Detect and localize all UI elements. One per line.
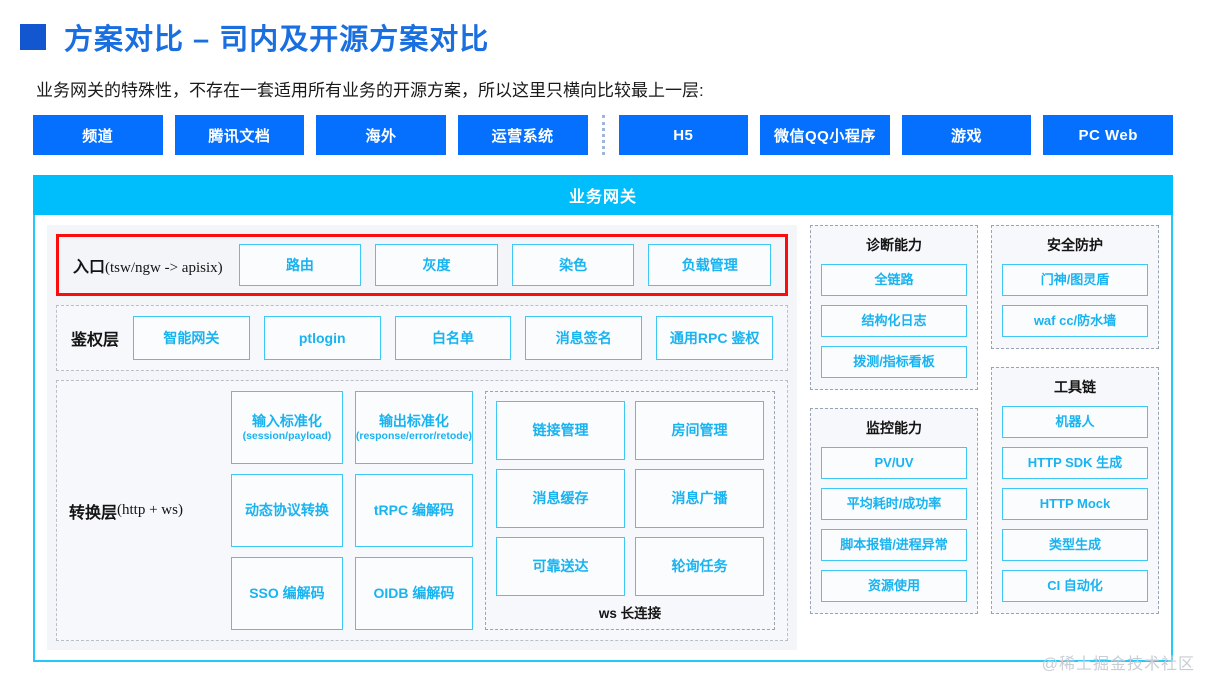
transform-chip-output-standardization-sub: (response/error/retode) xyxy=(356,430,472,442)
toolchain-group: 工具链 机器人 HTTP SDK 生成 HTTP Mock 类型生成 CI 自动… xyxy=(991,367,1159,614)
auth-layer-chips: 智能网关 ptlogin 白名单 消息签名 通用RPC 鉴权 xyxy=(133,316,773,360)
entry-layer-row: 入口(tsw/ngw -> apisix) 路由 灰度 染色 负载管理 xyxy=(56,234,788,296)
ws-chip-message-cache[interactable]: 消息缓存 xyxy=(496,469,625,528)
ws-chip-connection-management[interactable]: 链接管理 xyxy=(496,401,625,460)
ws-chip-message-broadcast[interactable]: 消息广播 xyxy=(635,469,764,528)
transform-chip-dynamic-protocol-conversion[interactable]: 动态协议转换 xyxy=(231,474,343,547)
entry-chip-routing[interactable]: 路由 xyxy=(239,244,362,286)
client-group-right: H5 微信QQ小程序 游戏 PC Web xyxy=(619,115,1174,155)
ws-chip-polling-task[interactable]: 轮询任务 xyxy=(635,537,764,596)
auth-chip-whitelist[interactable]: 白名单 xyxy=(395,316,512,360)
toolchain-group-title: 工具链 xyxy=(1002,377,1148,397)
entry-chip-load-management[interactable]: 负载管理 xyxy=(648,244,771,286)
transform-layer-label-main: 转换层 xyxy=(69,499,117,523)
transform-chip-oidb-codec[interactable]: OIDB 编解码 xyxy=(355,557,473,630)
client-button-channel[interactable]: 频道 xyxy=(33,115,163,155)
client-button-game[interactable]: 游戏 xyxy=(902,115,1032,155)
page-title: 方案对比 – 司内及开源方案对比 xyxy=(64,16,489,58)
capability-column-left: 诊断能力 全链路 结构化日志 拨测/指标看板 监控能力 PV/UV 平均耗时/成… xyxy=(810,225,978,650)
monitor-chip-pv-uv[interactable]: PV/UV xyxy=(821,447,967,479)
right-capability-columns: 诊断能力 全链路 结构化日志 拨测/指标看板 监控能力 PV/UV 平均耗时/成… xyxy=(810,225,1159,650)
transform-chip-trpc-codec[interactable]: tRPC 编解码 xyxy=(355,474,473,547)
page-header: 方案对比 – 司内及开源方案对比 xyxy=(20,16,489,58)
transform-chip-sso-codec[interactable]: SSO 编解码 xyxy=(231,557,343,630)
toolchain-chip-http-mock[interactable]: HTTP Mock xyxy=(1002,488,1148,520)
client-button-overseas[interactable]: 海外 xyxy=(316,115,446,155)
transform-chip-input-standardization[interactable]: 输入标准化 (session/payload) xyxy=(231,391,343,464)
client-button-h5[interactable]: H5 xyxy=(619,115,749,155)
security-chip-waf-cc-firewall[interactable]: waf cc/防水墙 xyxy=(1002,305,1148,337)
entry-layer-chips: 路由 灰度 染色 负载管理 xyxy=(239,244,771,286)
diagnose-group-title: 诊断能力 xyxy=(821,235,967,255)
client-group-divider xyxy=(602,115,605,155)
security-group: 安全防护 门神/图灵盾 waf cc/防水墙 xyxy=(991,225,1159,349)
diagnose-chip-dial-test-dashboard[interactable]: 拨测/指标看板 xyxy=(821,346,967,378)
client-row: 频道 腾讯文档 海外 运营系统 H5 微信QQ小程序 游戏 PC Web xyxy=(33,115,1173,155)
transform-layer-chips: 输入标准化 (session/payload) 输出标准化 (response/… xyxy=(231,391,473,630)
client-button-wechat-qq-miniprogram[interactable]: 微信QQ小程序 xyxy=(760,115,890,155)
capability-column-right: 安全防护 门神/图灵盾 waf cc/防水墙 工具链 机器人 HTTP SDK … xyxy=(991,225,1159,650)
ws-chip-room-management[interactable]: 房间管理 xyxy=(635,401,764,460)
client-button-tencent-docs[interactable]: 腾讯文档 xyxy=(175,115,305,155)
transform-chip-input-standardization-sub: (session/payload) xyxy=(243,430,332,442)
client-group-left: 频道 腾讯文档 海外 运营系统 xyxy=(33,115,588,155)
auth-chip-smart-gateway[interactable]: 智能网关 xyxy=(133,316,250,360)
auth-chip-message-signature[interactable]: 消息签名 xyxy=(525,316,642,360)
ws-long-connection-box: 链接管理 房间管理 消息缓存 消息广播 可靠送达 轮询任务 ws 长连接 xyxy=(485,391,775,630)
toolchain-chip-http-sdk-generation[interactable]: HTTP SDK 生成 xyxy=(1002,447,1148,479)
entry-chip-grayscale[interactable]: 灰度 xyxy=(375,244,498,286)
monitor-chip-avg-latency-success-rate[interactable]: 平均耗时/成功率 xyxy=(821,488,967,520)
monitor-group-title: 监控能力 xyxy=(821,418,967,438)
diagnose-group: 诊断能力 全链路 结构化日志 拨测/指标看板 xyxy=(810,225,978,390)
client-button-pc-web[interactable]: PC Web xyxy=(1043,115,1173,155)
toolchain-chip-robot[interactable]: 机器人 xyxy=(1002,406,1148,438)
monitor-chip-script-error-process-exception[interactable]: 脚本报错/进程异常 xyxy=(821,529,967,561)
diagnose-group-items: 全链路 结构化日志 拨测/指标看板 xyxy=(821,264,967,378)
watermark: @稀土掘金技术社区 xyxy=(1042,650,1195,674)
security-group-items: 门神/图灵盾 waf cc/防水墙 xyxy=(1002,264,1148,337)
monitor-chip-resource-usage[interactable]: 资源使用 xyxy=(821,570,967,602)
ws-long-connection-caption: ws 长连接 xyxy=(496,596,764,625)
gateway-panel-content: 入口(tsw/ngw -> apisix) 路由 灰度 染色 负载管理 鉴权层 … xyxy=(47,225,1159,650)
auth-chip-generic-rpc-auth[interactable]: 通用RPC 鉴权 xyxy=(656,316,773,360)
diagnose-chip-full-link[interactable]: 全链路 xyxy=(821,264,967,296)
security-chip-menshen-turing-shield[interactable]: 门神/图灵盾 xyxy=(1002,264,1148,296)
gateway-bar: 业务网关 xyxy=(33,175,1173,215)
transform-layer-label: 转换层(http + ws) xyxy=(69,391,219,630)
auth-layer-label: 鉴权层 xyxy=(71,326,119,350)
monitor-group: 监控能力 PV/UV 平均耗时/成功率 脚本报错/进程异常 资源使用 xyxy=(810,408,978,614)
gateway-panel: 入口(tsw/ngw -> apisix) 路由 灰度 染色 负载管理 鉴权层 … xyxy=(33,215,1173,662)
toolchain-chip-type-generation[interactable]: 类型生成 xyxy=(1002,529,1148,561)
client-button-ops-system[interactable]: 运营系统 xyxy=(458,115,588,155)
transform-chip-output-standardization[interactable]: 输出标准化 (response/error/retode) xyxy=(355,391,473,464)
entry-layer-label-main: 入口 xyxy=(73,259,105,276)
ws-chip-reliable-delivery[interactable]: 可靠送达 xyxy=(496,537,625,596)
diagnose-chip-structured-logs[interactable]: 结构化日志 xyxy=(821,305,967,337)
auth-chip-ptlogin[interactable]: ptlogin xyxy=(264,316,381,360)
toolchain-group-items: 机器人 HTTP SDK 生成 HTTP Mock 类型生成 CI 自动化 xyxy=(1002,406,1148,602)
monitor-group-items: PV/UV 平均耗时/成功率 脚本报错/进程异常 资源使用 xyxy=(821,447,967,602)
entry-layer-label-paren: (tsw/ngw -> apisix) xyxy=(105,260,223,276)
transform-layer-label-paren: (http + ws) xyxy=(117,502,183,519)
transform-chip-input-standardization-title: 输入标准化 xyxy=(252,413,322,429)
ws-chips: 链接管理 房间管理 消息缓存 消息广播 可靠送达 轮询任务 xyxy=(496,401,764,596)
security-group-title: 安全防护 xyxy=(1002,235,1148,255)
page-subtitle: 业务网关的特殊性，不存在一套适用所有业务的开源方案，所以这里只横向比较最上一层: xyxy=(36,76,704,101)
transform-chip-output-standardization-title: 输出标准化 xyxy=(379,413,449,429)
toolchain-chip-ci-automation[interactable]: CI 自动化 xyxy=(1002,570,1148,602)
left-layers-panel: 入口(tsw/ngw -> apisix) 路由 灰度 染色 负载管理 鉴权层 … xyxy=(47,225,797,650)
header-marker-icon xyxy=(20,24,46,50)
entry-chip-coloring[interactable]: 染色 xyxy=(512,244,635,286)
entry-layer-label: 入口(tsw/ngw -> apisix) xyxy=(73,253,223,277)
auth-layer-row: 鉴权层 智能网关 ptlogin 白名单 消息签名 通用RPC 鉴权 xyxy=(56,305,788,371)
transform-layer-row: 转换层(http + ws) 输入标准化 (session/payload) 输… xyxy=(56,380,788,641)
